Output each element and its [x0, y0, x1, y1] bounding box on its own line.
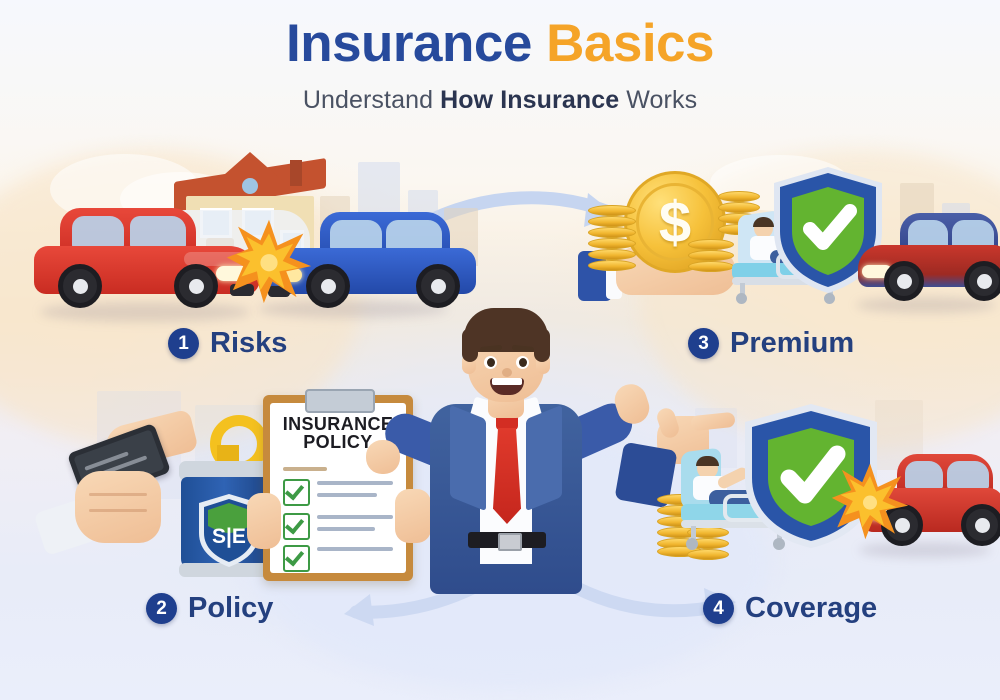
clipboard-text-line: [317, 481, 393, 485]
car-wheel: [174, 264, 218, 308]
hand-holding-clipboard-left: [247, 493, 281, 549]
left-hand: [366, 440, 400, 474]
step-label-risks[interactable]: 1 Risks: [168, 327, 287, 360]
step-text-policy: Policy: [188, 592, 273, 625]
title-primary: Insurance: [286, 14, 532, 73]
businessman-presenter: [392, 300, 622, 620]
teeth: [492, 378, 522, 385]
policy-scene: S|E INSURANCE POLICY: [45, 385, 415, 590]
index-finger: [690, 412, 735, 432]
car-wheel: [58, 264, 102, 308]
insurance-policy-clipboard: INSURANCE POLICY: [263, 389, 413, 581]
coin-stack: [688, 239, 732, 279]
step-text-coverage: Coverage: [745, 592, 877, 625]
eye: [516, 356, 529, 369]
clipboard-text-line: [317, 547, 393, 551]
poster-header: Insurance Basics Understand How Insuranc…: [0, 16, 1000, 115]
step-text-risks: Risks: [210, 327, 287, 360]
step-badge-4: 4: [703, 593, 734, 624]
finger-line: [89, 509, 147, 512]
hair-side: [534, 328, 550, 362]
finger-line: [89, 493, 147, 496]
checkmark-icon: [283, 545, 310, 572]
title-accent: Basics: [546, 14, 714, 73]
premium-car: [858, 213, 1000, 301]
necktie: [493, 428, 521, 524]
subtitle-bold: How Insurance: [440, 86, 619, 114]
patient-hair: [696, 456, 719, 466]
clipboard-text-line: [317, 527, 375, 531]
subtitle-pre: Understand: [303, 86, 440, 114]
subtitle-post: Works: [619, 86, 697, 114]
hair-side: [462, 328, 478, 362]
lower-hand-fist: [75, 471, 161, 543]
step-label-coverage[interactable]: 4 Coverage: [703, 592, 877, 625]
car-window: [130, 216, 186, 248]
coverage-scene: [635, 400, 995, 590]
step-badge-2: 2: [146, 593, 177, 624]
clipboard-text-line: [317, 493, 377, 497]
coin-stack: [588, 205, 634, 271]
clipboard-clamp: [305, 389, 375, 413]
car-wheel: [964, 261, 1000, 301]
bed-wheel: [736, 293, 747, 304]
house-chimney: [290, 160, 302, 186]
car-window: [386, 220, 442, 250]
page-subtitle: Understand How Insurance Works: [0, 86, 1000, 115]
risks-scene: [20, 150, 480, 325]
step-label-policy[interactable]: 2 Policy: [146, 592, 273, 625]
car-wheel: [961, 504, 1000, 546]
house-gable-window: [242, 178, 258, 194]
page-title: Insurance Basics: [0, 16, 1000, 72]
step-label-premium[interactable]: 3 Premium: [688, 327, 854, 360]
step-badge-3: 3: [688, 328, 719, 359]
svg-text:S|E: S|E: [212, 525, 246, 548]
clipboard-text-line: [317, 515, 393, 519]
belt-buckle: [498, 533, 522, 551]
impact-burst-icon: [831, 462, 909, 540]
car-windshield: [905, 461, 943, 489]
car-wheel: [884, 261, 924, 301]
car-window: [952, 220, 994, 248]
car-windshield: [330, 220, 382, 250]
car-window: [947, 461, 989, 489]
checkmark-icon: [283, 513, 310, 540]
suit-lapel-left: [450, 405, 486, 512]
pupil: [519, 358, 527, 367]
step-text-premium: Premium: [730, 327, 854, 360]
car-windshield: [72, 216, 124, 248]
step-badge-1: 1: [168, 328, 199, 359]
impact-burst-icon: [226, 218, 312, 304]
suit-lapel-right: [526, 405, 562, 512]
car-wheel: [306, 264, 350, 308]
pupil: [487, 358, 495, 367]
checkmark-icon: [283, 479, 310, 506]
infographic-poster: Insurance Basics Understand How Insuranc…: [0, 0, 1000, 700]
premium-scene: $: [570, 155, 990, 325]
bed-wheel: [686, 538, 698, 550]
car-windshield: [908, 220, 948, 248]
eye: [484, 356, 497, 369]
clipboard-subline: [283, 467, 327, 471]
nose: [502, 368, 512, 377]
